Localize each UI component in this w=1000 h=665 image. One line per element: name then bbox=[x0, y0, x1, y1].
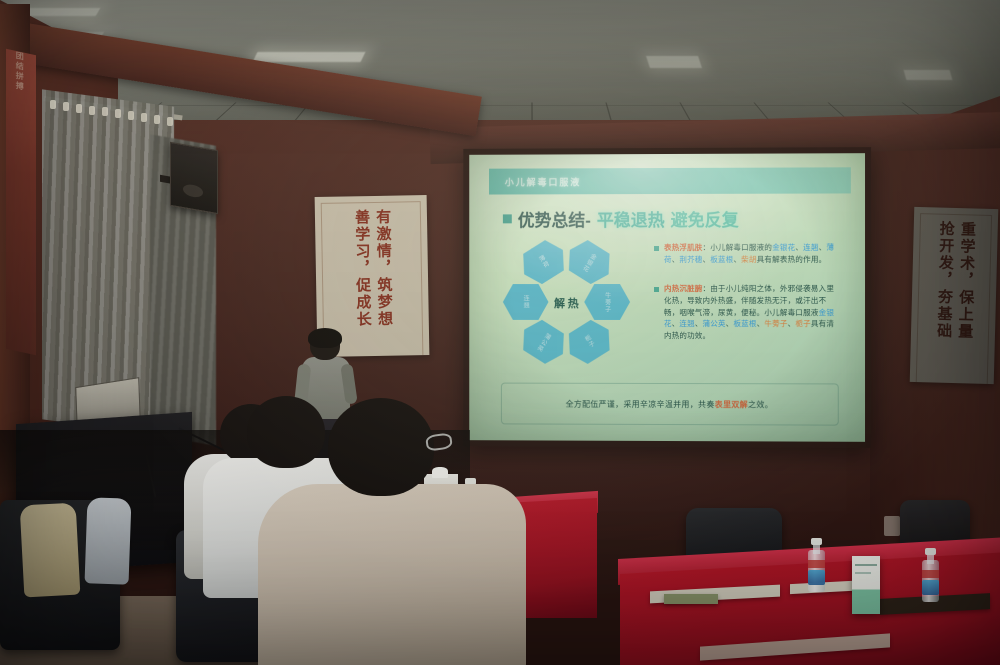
flower-center-label: 解 热 bbox=[534, 286, 600, 320]
flower-diagram: 薄荷 金银花 连翘 牛蒡子 蒲公英 栀子 解 热 bbox=[507, 242, 626, 362]
bullet-body: 内热沉脏腑：由于小儿纯阳之体，外邪侵袭易入里化热，导致内外热盛，伴随发热无汗，或… bbox=[664, 283, 841, 341]
curtain-hook bbox=[128, 111, 134, 120]
curtain-hook bbox=[76, 104, 82, 113]
slide-bullet-item: 表热浮肌肤：小儿解毒口服液的金银花、连翘、薄荷、荆芥穗、板蓝根、柴胡具有解表热的… bbox=[654, 242, 841, 266]
wall-speaker bbox=[170, 142, 218, 214]
bullet-text: ：小儿解毒口服液的 bbox=[703, 243, 773, 252]
summary-highlight: 表里双解 bbox=[715, 399, 748, 410]
petal-label: 牛蒡子 bbox=[603, 292, 612, 313]
flower-petal: 蒲公英 bbox=[515, 314, 573, 369]
bottle-label bbox=[808, 570, 825, 585]
presenter-hair bbox=[308, 328, 342, 348]
bullet-dot-icon bbox=[654, 287, 659, 292]
product-box bbox=[852, 556, 880, 614]
document-folder bbox=[664, 594, 718, 604]
speaker-cone-icon bbox=[183, 183, 203, 199]
bullet-dot-icon bbox=[654, 246, 659, 251]
curtain-hook bbox=[63, 102, 69, 111]
bullet-heading: 表热浮肌肤 bbox=[664, 243, 703, 252]
water-bottle bbox=[922, 548, 939, 602]
scroll-line-1: 有激情，筑梦想 bbox=[373, 209, 393, 357]
slide-bullet-item: 内热沉脏腑：由于小儿纯阳之体，外邪侵袭易入里化热，导致内外热盛，伴随发热无汗，或… bbox=[654, 283, 841, 341]
scroll-line-2: 抢开发，夯基础 bbox=[932, 221, 954, 385]
petal-label: 薄荷 bbox=[536, 254, 551, 271]
attendee-foreground bbox=[280, 398, 500, 665]
jacket-on-chair bbox=[20, 503, 81, 598]
attendee-head bbox=[328, 398, 434, 496]
summary-suffix: 之效。 bbox=[748, 399, 773, 410]
curtain-hook bbox=[50, 100, 56, 109]
projection-screen: 小儿解毒口服液 优势总结- 平稳退热 避免反复 薄荷 金银花 连翘 牛蒡子 蒲公… bbox=[469, 153, 865, 442]
slide-header-title: 小儿解毒口服液 bbox=[505, 175, 581, 188]
petal-label: 蒲公英 bbox=[534, 331, 553, 353]
bullet-highlight: 栀子 bbox=[795, 319, 811, 328]
bullet-highlight: 牛蒡子 bbox=[764, 319, 787, 328]
bottle-cap bbox=[811, 538, 822, 545]
presentation-slide: 小儿解毒口服液 优势总结- 平稳退热 避免反复 薄荷 金银花 连翘 牛蒡子 蒲公… bbox=[469, 153, 865, 442]
banner-text: 团结拼搏 bbox=[15, 51, 24, 93]
square-bullet-icon bbox=[503, 214, 512, 223]
petal-label: 连翘 bbox=[521, 295, 530, 309]
bullet-highlight: 板蓝根 bbox=[710, 255, 733, 264]
bottle-neck bbox=[813, 544, 820, 554]
slide-bullet-list: 表热浮肌肤：小儿解毒口服液的金银花、连翘、薄荷、荆芥穗、板蓝根、柴胡具有解表热的… bbox=[654, 242, 841, 360]
wall-banner-far-left: 团结拼搏 bbox=[6, 49, 36, 355]
slide-title-dark: 优势总结- bbox=[518, 206, 591, 231]
photo-scene: 团结拼搏 有激情，筑梦想 善学习，促成长 重学术，保上量 抢开发，夯基础 小儿解… bbox=[0, 0, 1000, 665]
wall-scroll-right: 重学术，保上量 抢开发，夯基础 bbox=[910, 207, 999, 384]
bullet-highlight: 蒲公英 bbox=[703, 319, 726, 328]
bottle-neck bbox=[927, 554, 934, 564]
petal-label: 栀子 bbox=[582, 334, 597, 351]
scroll-line-1: 重学术，保上量 bbox=[953, 221, 975, 384]
slide-title: 优势总结- 平稳退热 避免反复 bbox=[503, 206, 739, 232]
bullet-highlight: 金银花 bbox=[772, 243, 795, 252]
bullet-highlight: 荆芥穗 bbox=[679, 255, 702, 264]
product-box-line bbox=[855, 564, 877, 566]
water-bottle bbox=[808, 538, 825, 592]
curtain-hook bbox=[89, 106, 95, 115]
projection-screen-frame: 小儿解毒口服液 优势总结- 平稳退热 避免反复 薄荷 金银花 连翘 牛蒡子 蒲公… bbox=[463, 147, 871, 448]
bullet-highlight: 连翘 bbox=[803, 243, 819, 252]
product-box-line bbox=[855, 572, 871, 574]
curtain-hook bbox=[154, 115, 160, 124]
bullet-tail: 具有解表热的作用。 bbox=[757, 254, 827, 263]
curtain-hook bbox=[115, 109, 121, 118]
glasses-icon bbox=[425, 432, 453, 451]
petal-label: 金银花 bbox=[580, 251, 599, 274]
curtain-hook bbox=[167, 117, 173, 126]
flower-petal: 金银花 bbox=[560, 235, 618, 290]
bullet-body: 表热浮肌肤：小儿解毒口服液的金银花、连翘、薄荷、荆芥穗、板蓝根、柴胡具有解表热的… bbox=[664, 242, 841, 266]
slide-summary-box: 全方配伍严谨，采用辛凉辛温并用，共奏表里双解之效。 bbox=[501, 383, 839, 426]
bullet-heading: 内热沉脏腑 bbox=[664, 284, 703, 293]
curtain-hook bbox=[102, 107, 108, 116]
bottle-label bbox=[922, 580, 939, 595]
bullet-highlight: 连翘 bbox=[679, 319, 694, 328]
flower-petal: 薄荷 bbox=[515, 235, 573, 290]
bottle-label-top bbox=[808, 560, 825, 568]
slide-header-band: 小儿解毒口服液 bbox=[489, 167, 851, 194]
jacket-on-chair bbox=[85, 497, 132, 584]
slide-title-highlight-1: 平稳退热 bbox=[597, 206, 665, 231]
curtain-hook bbox=[141, 113, 147, 122]
bottle-cap bbox=[925, 548, 936, 555]
flower-petal: 栀子 bbox=[560, 315, 618, 370]
bullet-highlight: 柴胡 bbox=[741, 255, 756, 264]
bullet-highlight: 板蓝根 bbox=[733, 319, 756, 328]
bottle-label-top bbox=[922, 570, 939, 578]
attendee-body bbox=[258, 484, 526, 665]
scroll-line-2: 善学习，促成长 bbox=[352, 209, 372, 357]
wall-outlet bbox=[884, 516, 900, 536]
slide-title-highlight-2: 避免反复 bbox=[671, 206, 739, 231]
summary-prefix: 全方配伍严谨，采用辛凉辛温并用，共奏 bbox=[566, 398, 715, 409]
